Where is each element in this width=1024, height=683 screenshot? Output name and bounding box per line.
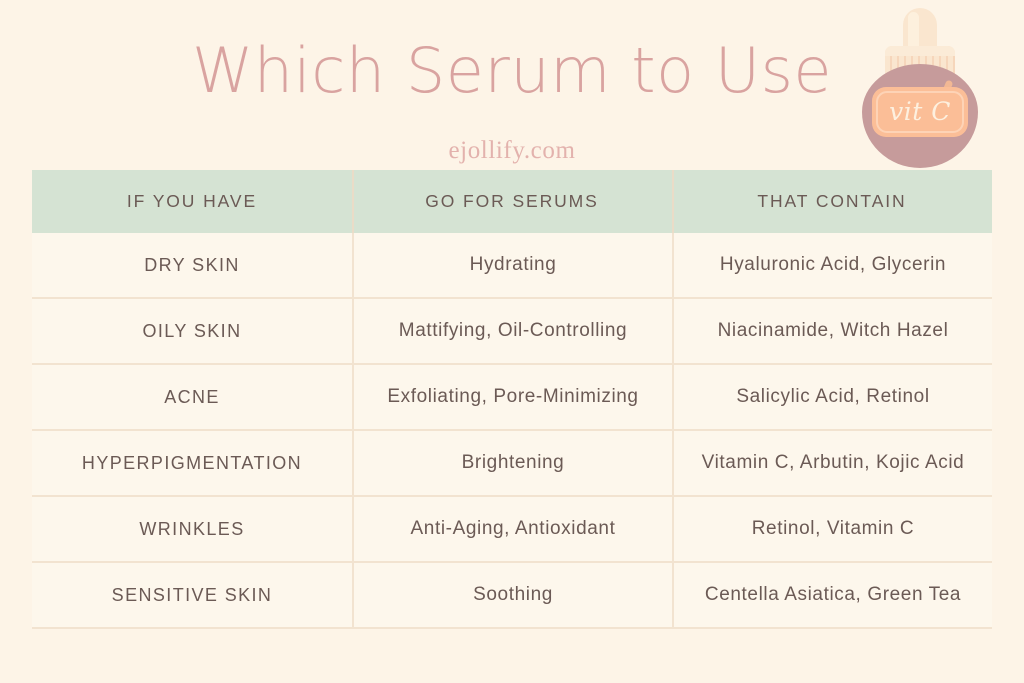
bottle-label-text: vit C	[872, 87, 968, 137]
bottle-cap-top-icon	[885, 46, 955, 56]
cell-serum: Hydrating	[352, 233, 672, 297]
cell-condition: ACNE	[32, 365, 352, 429]
cell-condition: OILY SKIN	[32, 299, 352, 363]
serum-guide-table: IF YOU HAVE GO FOR SERUMS THAT CONTAIN D…	[32, 170, 992, 629]
table-row: WRINKLES Anti-Aging, Antioxidant Retinol…	[32, 497, 992, 563]
cell-ingredients: Vitamin C, Arbutin, Kojic Acid	[672, 431, 992, 495]
cell-ingredients: Niacinamide, Witch Hazel	[672, 299, 992, 363]
cell-condition: HYPERPIGMENTATION	[32, 431, 352, 495]
cell-serum: Exfoliating, Pore-Minimizing	[352, 365, 672, 429]
table-row: DRY SKIN Hydrating Hyaluronic Acid, Glyc…	[32, 233, 992, 299]
cell-ingredients: Salicylic Acid, Retinol	[672, 365, 992, 429]
serum-bottle-icon: vit C	[845, 6, 1005, 172]
table-header-row: IF YOU HAVE GO FOR SERUMS THAT CONTAIN	[32, 170, 992, 233]
cell-ingredients: Centella Asiatica, Green Tea	[672, 563, 992, 627]
cell-ingredients: Retinol, Vitamin C	[672, 497, 992, 561]
column-header-condition: IF YOU HAVE	[32, 170, 352, 233]
cell-serum: Brightening	[352, 431, 672, 495]
cell-serum: Soothing	[352, 563, 672, 627]
column-header-ingredients: THAT CONTAIN	[672, 170, 992, 233]
table-row: ACNE Exfoliating, Pore-Minimizing Salicy…	[32, 365, 992, 431]
table-row: OILY SKIN Mattifying, Oil-Controlling Ni…	[32, 299, 992, 365]
table-row: HYPERPIGMENTATION Brightening Vitamin C,…	[32, 431, 992, 497]
cell-condition: SENSITIVE SKIN	[32, 563, 352, 627]
cell-condition: DRY SKIN	[32, 233, 352, 297]
cell-condition: WRINKLES	[32, 497, 352, 561]
table-row: SENSITIVE SKIN Soothing Centella Asiatic…	[32, 563, 992, 629]
cell-ingredients: Hyaluronic Acid, Glycerin	[672, 233, 992, 297]
cell-serum: Mattifying, Oil-Controlling	[352, 299, 672, 363]
column-header-serum: GO FOR SERUMS	[352, 170, 672, 233]
cell-serum: Anti-Aging, Antioxidant	[352, 497, 672, 561]
